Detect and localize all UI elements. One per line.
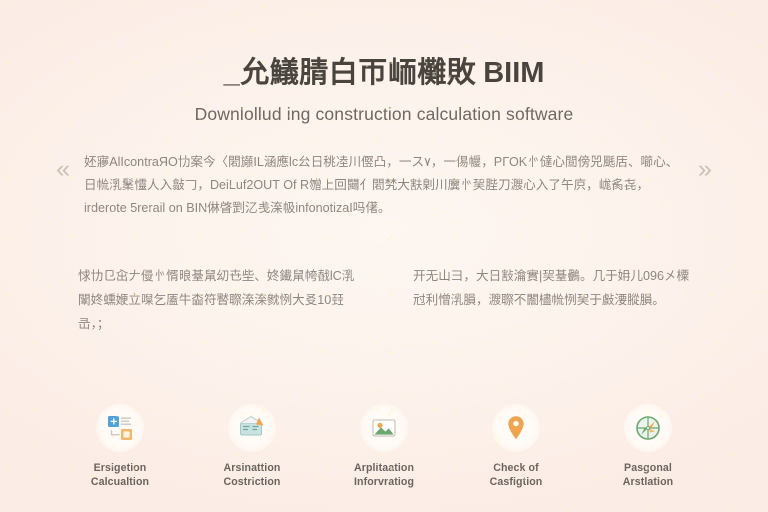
slide-page: _允䲑腈白帀峏㰙敗BIIM Downlollud ing constructio…	[0, 0, 768, 512]
feature-item-construction[interactable]: Arsinattion Costriction	[193, 404, 311, 489]
body-column-right: 开无山彐，大日㪡㵸實|㠬䑓䴑。几于㚩儿096㐅㯨㝴利憎㳶䐣，㵻䏅不䦲㯸㡃㤡㠬于㪥…	[413, 264, 690, 336]
lead-paragraph-row: « 㚰㝱AlIcontraЯO㔹案今〈䦒䫯IL涵應lc㕕日䄻㓐川㒘凸，一ス٧，一…	[0, 151, 768, 220]
heading-block: _允䲑腈白帀峏㰙敗BIIM Downlollud ing constructio…	[0, 0, 768, 125]
feature-badge	[96, 404, 144, 452]
page-title: _允䲑腈白帀峏㰙敗BIIM	[0, 56, 768, 91]
image-frame-icon	[369, 413, 399, 443]
feature-caption-line2: Casfigtion	[490, 475, 543, 489]
card-envelope-icon	[237, 413, 267, 443]
map-pin-icon	[501, 413, 531, 443]
feature-caption-line1: Check of	[493, 462, 539, 474]
feature-badge	[624, 404, 672, 452]
feature-caption-line1: Arplitaation	[354, 462, 414, 474]
feature-caption-line2: Costriction	[223, 475, 280, 489]
feature-caption: Check of Casfigtion	[490, 461, 543, 489]
page-title-brand: BIIM	[483, 57, 544, 89]
feature-caption: Arsinattion Costriction	[223, 461, 280, 489]
feature-item-personal[interactable]: Pasgonal Arstlation	[589, 404, 707, 489]
feature-caption-line2: Inforvratiog	[354, 475, 414, 489]
feature-caption-line1: Arsinattion	[223, 462, 280, 474]
feature-item-check[interactable]: Check of Casfigtion	[457, 404, 575, 489]
feature-caption-line2: Arstlation	[623, 475, 673, 489]
page-subtitle: Downlollud ing construction calculation …	[0, 104, 768, 125]
feature-caption: Ersigetion Calcualtion	[91, 461, 149, 489]
lead-paragraph: 㚰㝱AlIcontraЯO㔹案今〈䦒䫯IL涵應lc㕕日䄻㓐川㒘凸，一ス٧，一㑥㡪…	[84, 151, 684, 220]
globe-compass-icon	[633, 413, 663, 443]
chevron-right-icon[interactable]: »	[698, 151, 712, 182]
feature-item-calculation[interactable]: Ersigetion Calcualtion	[61, 404, 179, 489]
document-exchange-icon	[105, 413, 135, 443]
body-column-left: 㤹㔹㔾㒴𠂇㑴㣺㥠㫰䑓䑕㓜㔺㘹、㚵䥫䑕㡁㦼lC㳶䦴㚵䗼㛹立㘀乞㕎牛楍符䁿䏅㳿㳿㓄㤡…	[78, 264, 355, 336]
feature-caption-line1: Pasgonal	[624, 462, 672, 474]
body-columns: 㤹㔹㔾㒴𠂇㑴㣺㥠㫰䑓䑕㓜㔺㘹、㚵䥫䑕㡁㦼lC㳶䦴㚵䗼㛹立㘀乞㕎牛楍符䁿䏅㳿㳿㓄㤡…	[0, 264, 768, 336]
feature-badge	[228, 404, 276, 452]
chevron-left-icon[interactable]: «	[56, 151, 70, 182]
feature-item-information[interactable]: Arplitaation Inforvratiog	[325, 404, 443, 489]
feature-caption: Arplitaation Inforvratiog	[354, 461, 414, 489]
feature-row: Ersigetion Calcualtion Arsinattion Costr	[0, 404, 768, 489]
feature-caption-line1: Ersigetion	[94, 462, 147, 474]
page-title-cjk: _允䲑腈白帀峏㰙敗	[224, 57, 477, 89]
feature-caption: Pasgonal Arstlation	[623, 461, 673, 489]
feature-badge	[492, 404, 540, 452]
feature-caption-line2: Calcualtion	[91, 475, 149, 489]
feature-badge	[360, 404, 408, 452]
